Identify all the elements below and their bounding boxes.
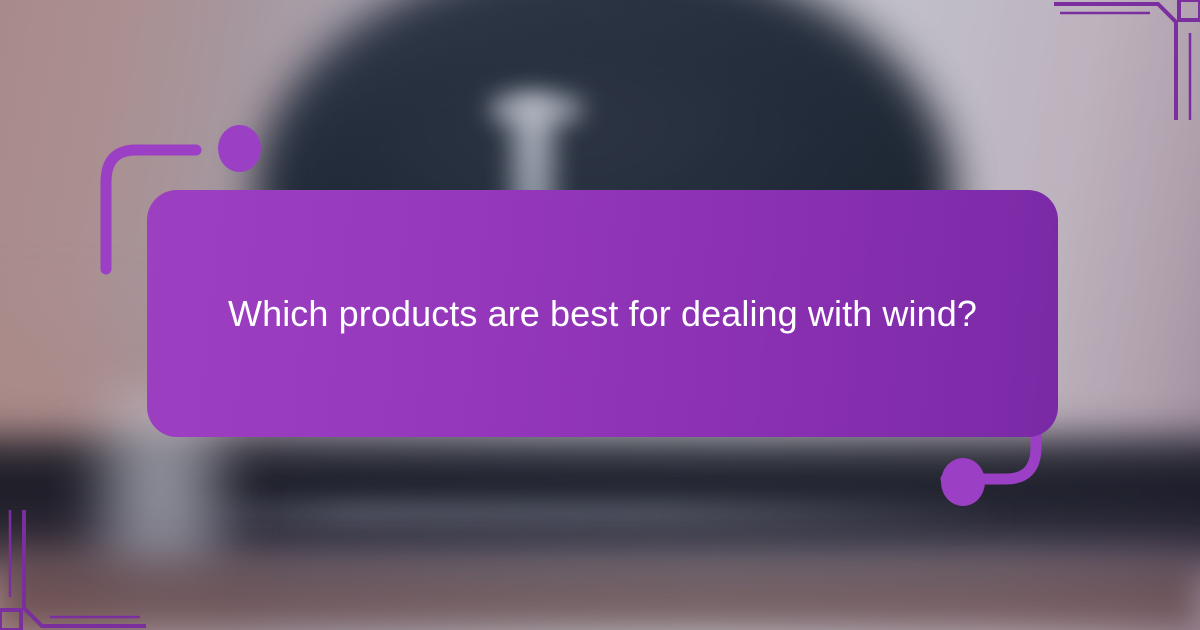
accent-dot-bottom-icon [941, 458, 985, 506]
circuit-trace-bottom-left-icon [0, 510, 160, 630]
background-foreground [0, 556, 1200, 630]
circuit-trace-top-right-icon [1040, 0, 1200, 120]
question-text: Which products are best for dealing with… [213, 287, 992, 341]
accent-dot-top-icon [218, 125, 261, 172]
background-light-streak [170, 500, 1010, 526]
question-card: Which products are best for dealing with… [147, 190, 1058, 437]
quote-card-stage: Which products are best for dealing with… [0, 0, 1200, 630]
